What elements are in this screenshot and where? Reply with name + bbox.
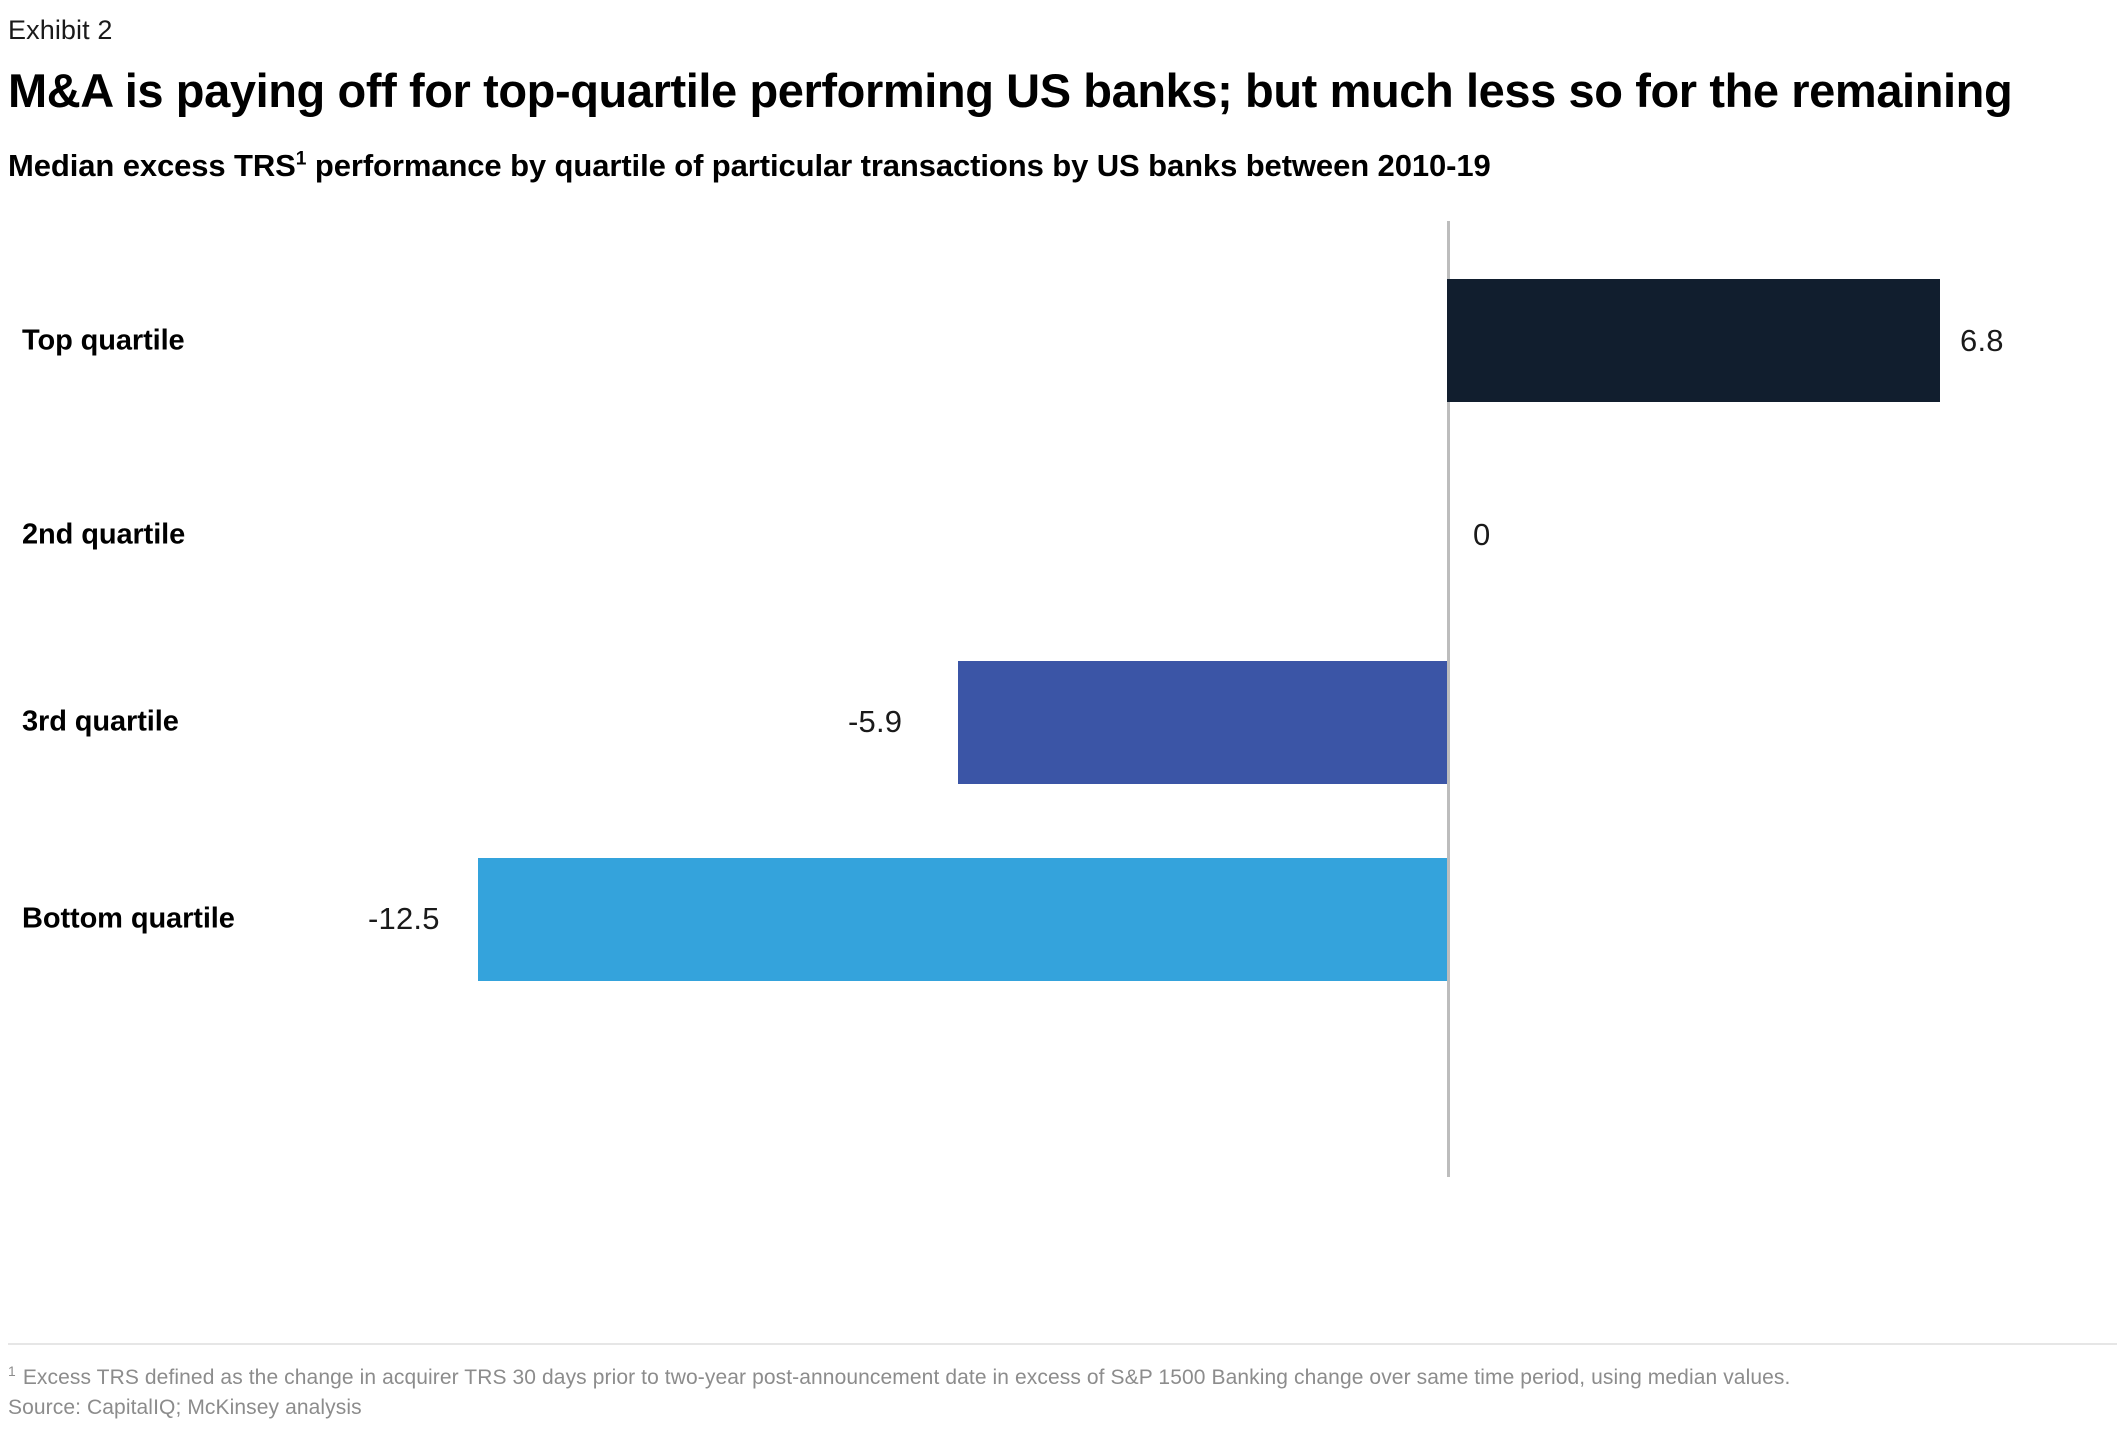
subtitle-text-start: Median excess TRS bbox=[8, 148, 296, 183]
chart-plot-area: Top quartile6.82nd quartile03rd quartile… bbox=[0, 221, 2125, 1437]
source-line: Source: CapitalIQ; McKinsey analysis bbox=[8, 1393, 2117, 1423]
value-label-1: 6.8 bbox=[1960, 323, 2004, 359]
category-label-2: 2nd quartile bbox=[22, 519, 185, 552]
value-label-2: 0 bbox=[1473, 517, 1490, 553]
footer-divider bbox=[8, 1343, 2117, 1345]
exhibit-header: Exhibit 2 M&A is paying off for top-quar… bbox=[0, 0, 2125, 185]
exhibit-footer: 1Excess TRS defined as the change in acq… bbox=[0, 1343, 2125, 1437]
bar-4 bbox=[478, 858, 1447, 981]
value-label-4: -12.5 bbox=[368, 901, 440, 937]
bar-1 bbox=[1447, 279, 1940, 402]
subtitle-footnote-marker: 1 bbox=[296, 148, 307, 169]
category-label-4: Bottom quartile bbox=[22, 903, 235, 936]
value-label-3: -5.9 bbox=[848, 704, 902, 740]
exhibit-container: Exhibit 2 M&A is paying off for top-quar… bbox=[0, 0, 2125, 1437]
footnote-marker: 1 bbox=[8, 1363, 16, 1379]
category-label-1: Top quartile bbox=[22, 324, 185, 357]
page-subtitle: Median excess TRS1 performance by quarti… bbox=[8, 147, 2085, 186]
exhibit-number-label: Exhibit 2 bbox=[8, 14, 2085, 48]
bar-chart: Top quartile6.82nd quartile03rd quartile… bbox=[0, 221, 2125, 1437]
page-title: M&A is paying off for top-quartile perfo… bbox=[8, 64, 2028, 119]
category-label-3: 3rd quartile bbox=[22, 706, 179, 739]
footnote: 1Excess TRS defined as the change in acq… bbox=[8, 1363, 2117, 1393]
bar-3 bbox=[958, 661, 1447, 784]
footnote-text: Excess TRS defined as the change in acqu… bbox=[23, 1366, 1791, 1389]
subtitle-text-end: performance by quartile of particular tr… bbox=[306, 148, 1490, 183]
